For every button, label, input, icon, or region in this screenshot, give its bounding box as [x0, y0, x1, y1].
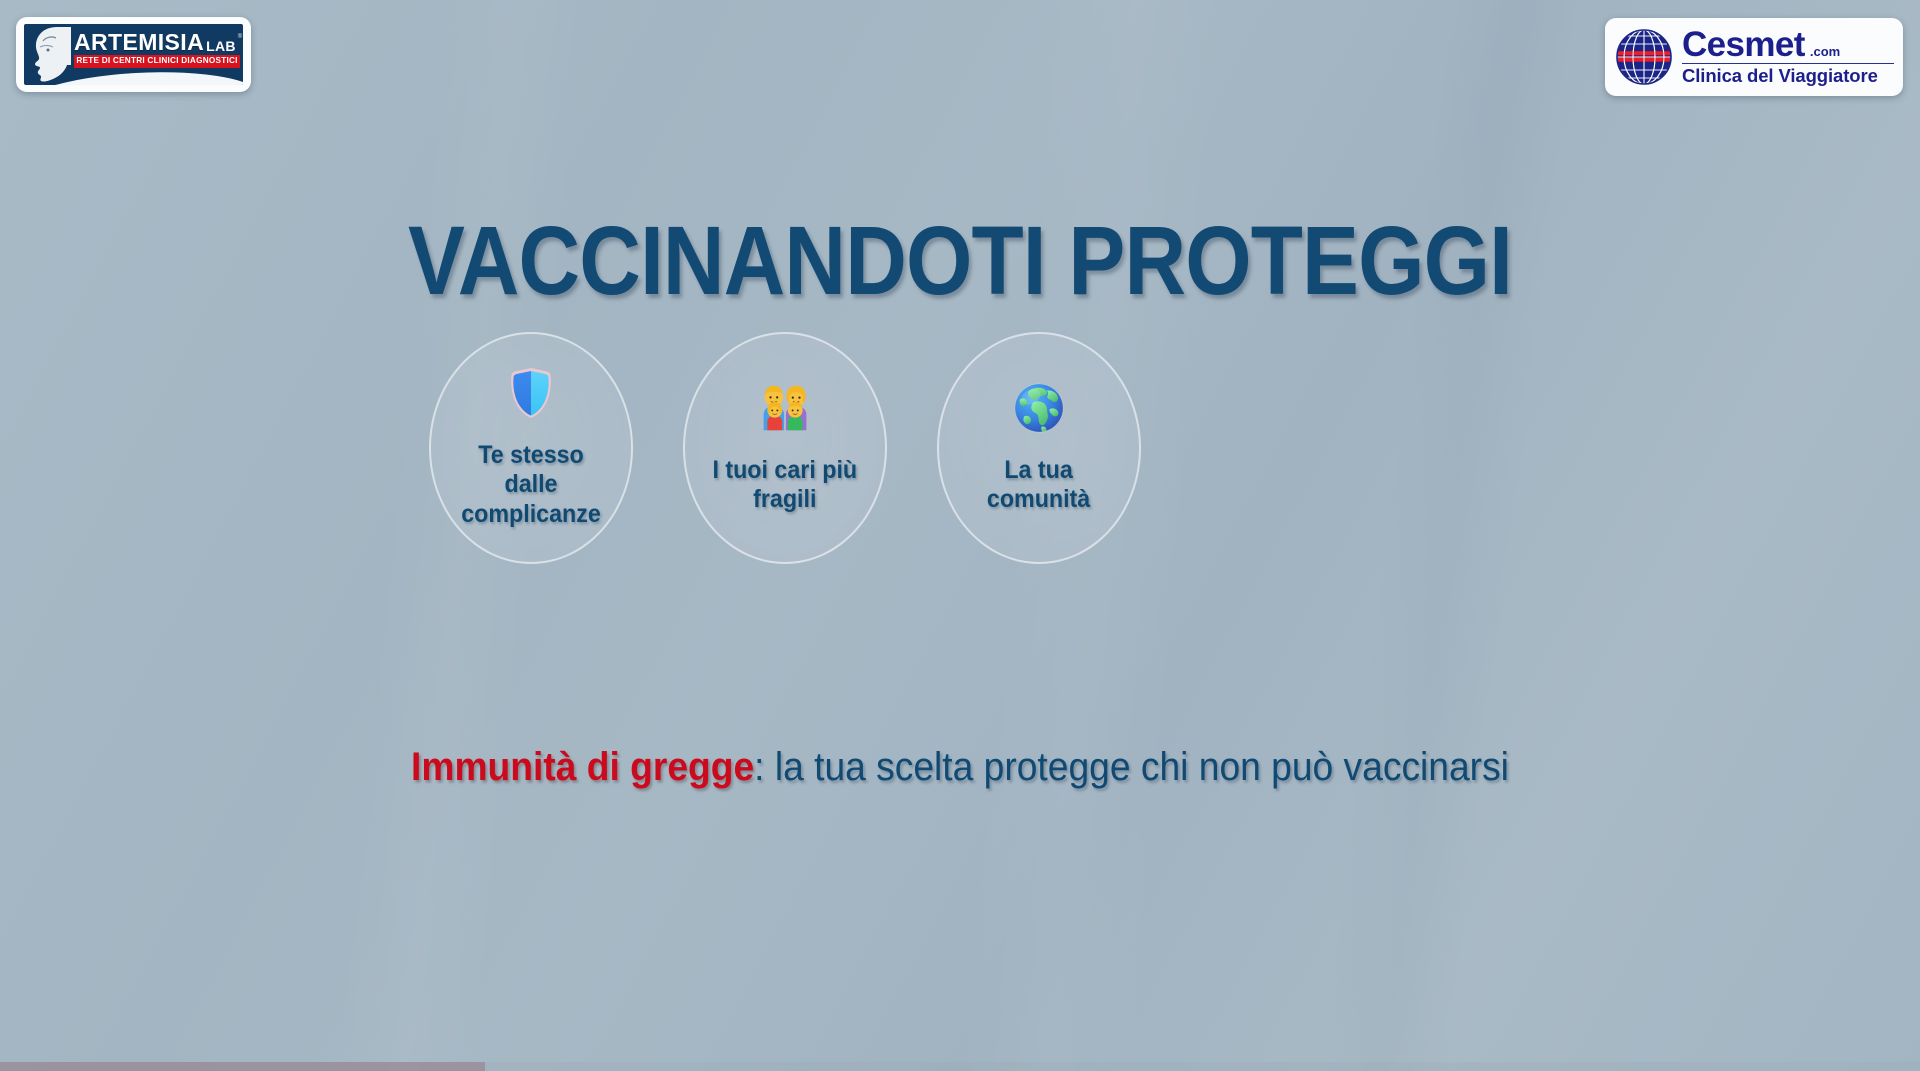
globe-grid-icon	[1614, 27, 1674, 87]
presentation-progress-bar[interactable]	[0, 1062, 1920, 1071]
artemisia-logo-panel: ARTEMISIA LAB ® RETE DI CENTRI CLINICI D…	[24, 24, 243, 85]
pillar-label: La tua comunità	[987, 456, 1090, 515]
pillar-label: Te stesso dalle complicanze	[451, 441, 611, 529]
pillar-label-line1: La tua	[1005, 456, 1073, 484]
pillar-loved-ones[interactable]: I tuoi cari più fragili	[683, 332, 887, 564]
caption-rest: : la tua scelta protegge chi non può vac…	[754, 745, 1509, 789]
pillar-label-line1: I tuoi cari più	[713, 456, 858, 484]
herd-immunity-caption: Immunità di gregge: la tua scelta proteg…	[67, 745, 1853, 789]
pillar-self-protection[interactable]: Te stesso dalle complicanze	[429, 332, 633, 564]
cesmet-tagline-text: Clinica del Viaggiatore	[1682, 67, 1894, 86]
cesmet-brand-row: Cesmet .com	[1682, 28, 1894, 64]
globe-earth-icon	[1013, 382, 1065, 434]
artemisia-tagline-text: RETE DI CENTRI CLINICI DIAGNOSTICI	[76, 57, 237, 65]
cesmet-domain-text: .com	[1810, 45, 1840, 58]
slide-canvas: ARTEMISIA LAB ® RETE DI CENTRI CLINICI D…	[0, 0, 1920, 1071]
pillar-label-line2: comunità	[987, 485, 1090, 513]
family-icon	[759, 382, 811, 434]
caption-highlight: Immunità di gregge	[411, 745, 754, 789]
progress-bar-fill	[0, 1062, 485, 1071]
artemisia-tagline-banner: RETE DI CENTRI CLINICI DIAGNOSTICI	[74, 55, 240, 68]
pillar-label: I tuoi cari più fragili	[713, 456, 858, 515]
pillar-group: Te stesso dalle complicanze	[429, 332, 1141, 564]
artemisia-lab-logo[interactable]: ARTEMISIA LAB ® RETE DI CENTRI CLINICI D…	[16, 17, 251, 92]
cesmet-brand-text: Cesmet	[1682, 28, 1805, 61]
artemisia-brand-text: ARTEMISIA	[74, 31, 204, 54]
artemisia-lab-text: LAB	[206, 39, 236, 53]
pillar-label-line1: Te stesso dalle	[478, 441, 584, 498]
artemisia-wordmark: ARTEMISIA LAB ®	[74, 27, 239, 54]
shield-icon	[505, 367, 557, 419]
pillar-label-line2: complicanze	[461, 500, 601, 528]
cesmet-logo[interactable]: Cesmet .com Clinica del Viaggiatore	[1605, 18, 1903, 96]
artemisia-registered-mark: ®	[238, 34, 242, 40]
pillar-label-line2: fragili	[753, 485, 816, 513]
pillar-community[interactable]: La tua comunità	[937, 332, 1141, 564]
woman-profile-icon	[27, 25, 73, 83]
page-title: VACCINANDOTI PROTEGGI	[115, 212, 1805, 309]
background-sheen-band	[1292, 0, 1608, 1071]
cesmet-wordmark: Cesmet .com Clinica del Viaggiatore	[1682, 28, 1894, 86]
